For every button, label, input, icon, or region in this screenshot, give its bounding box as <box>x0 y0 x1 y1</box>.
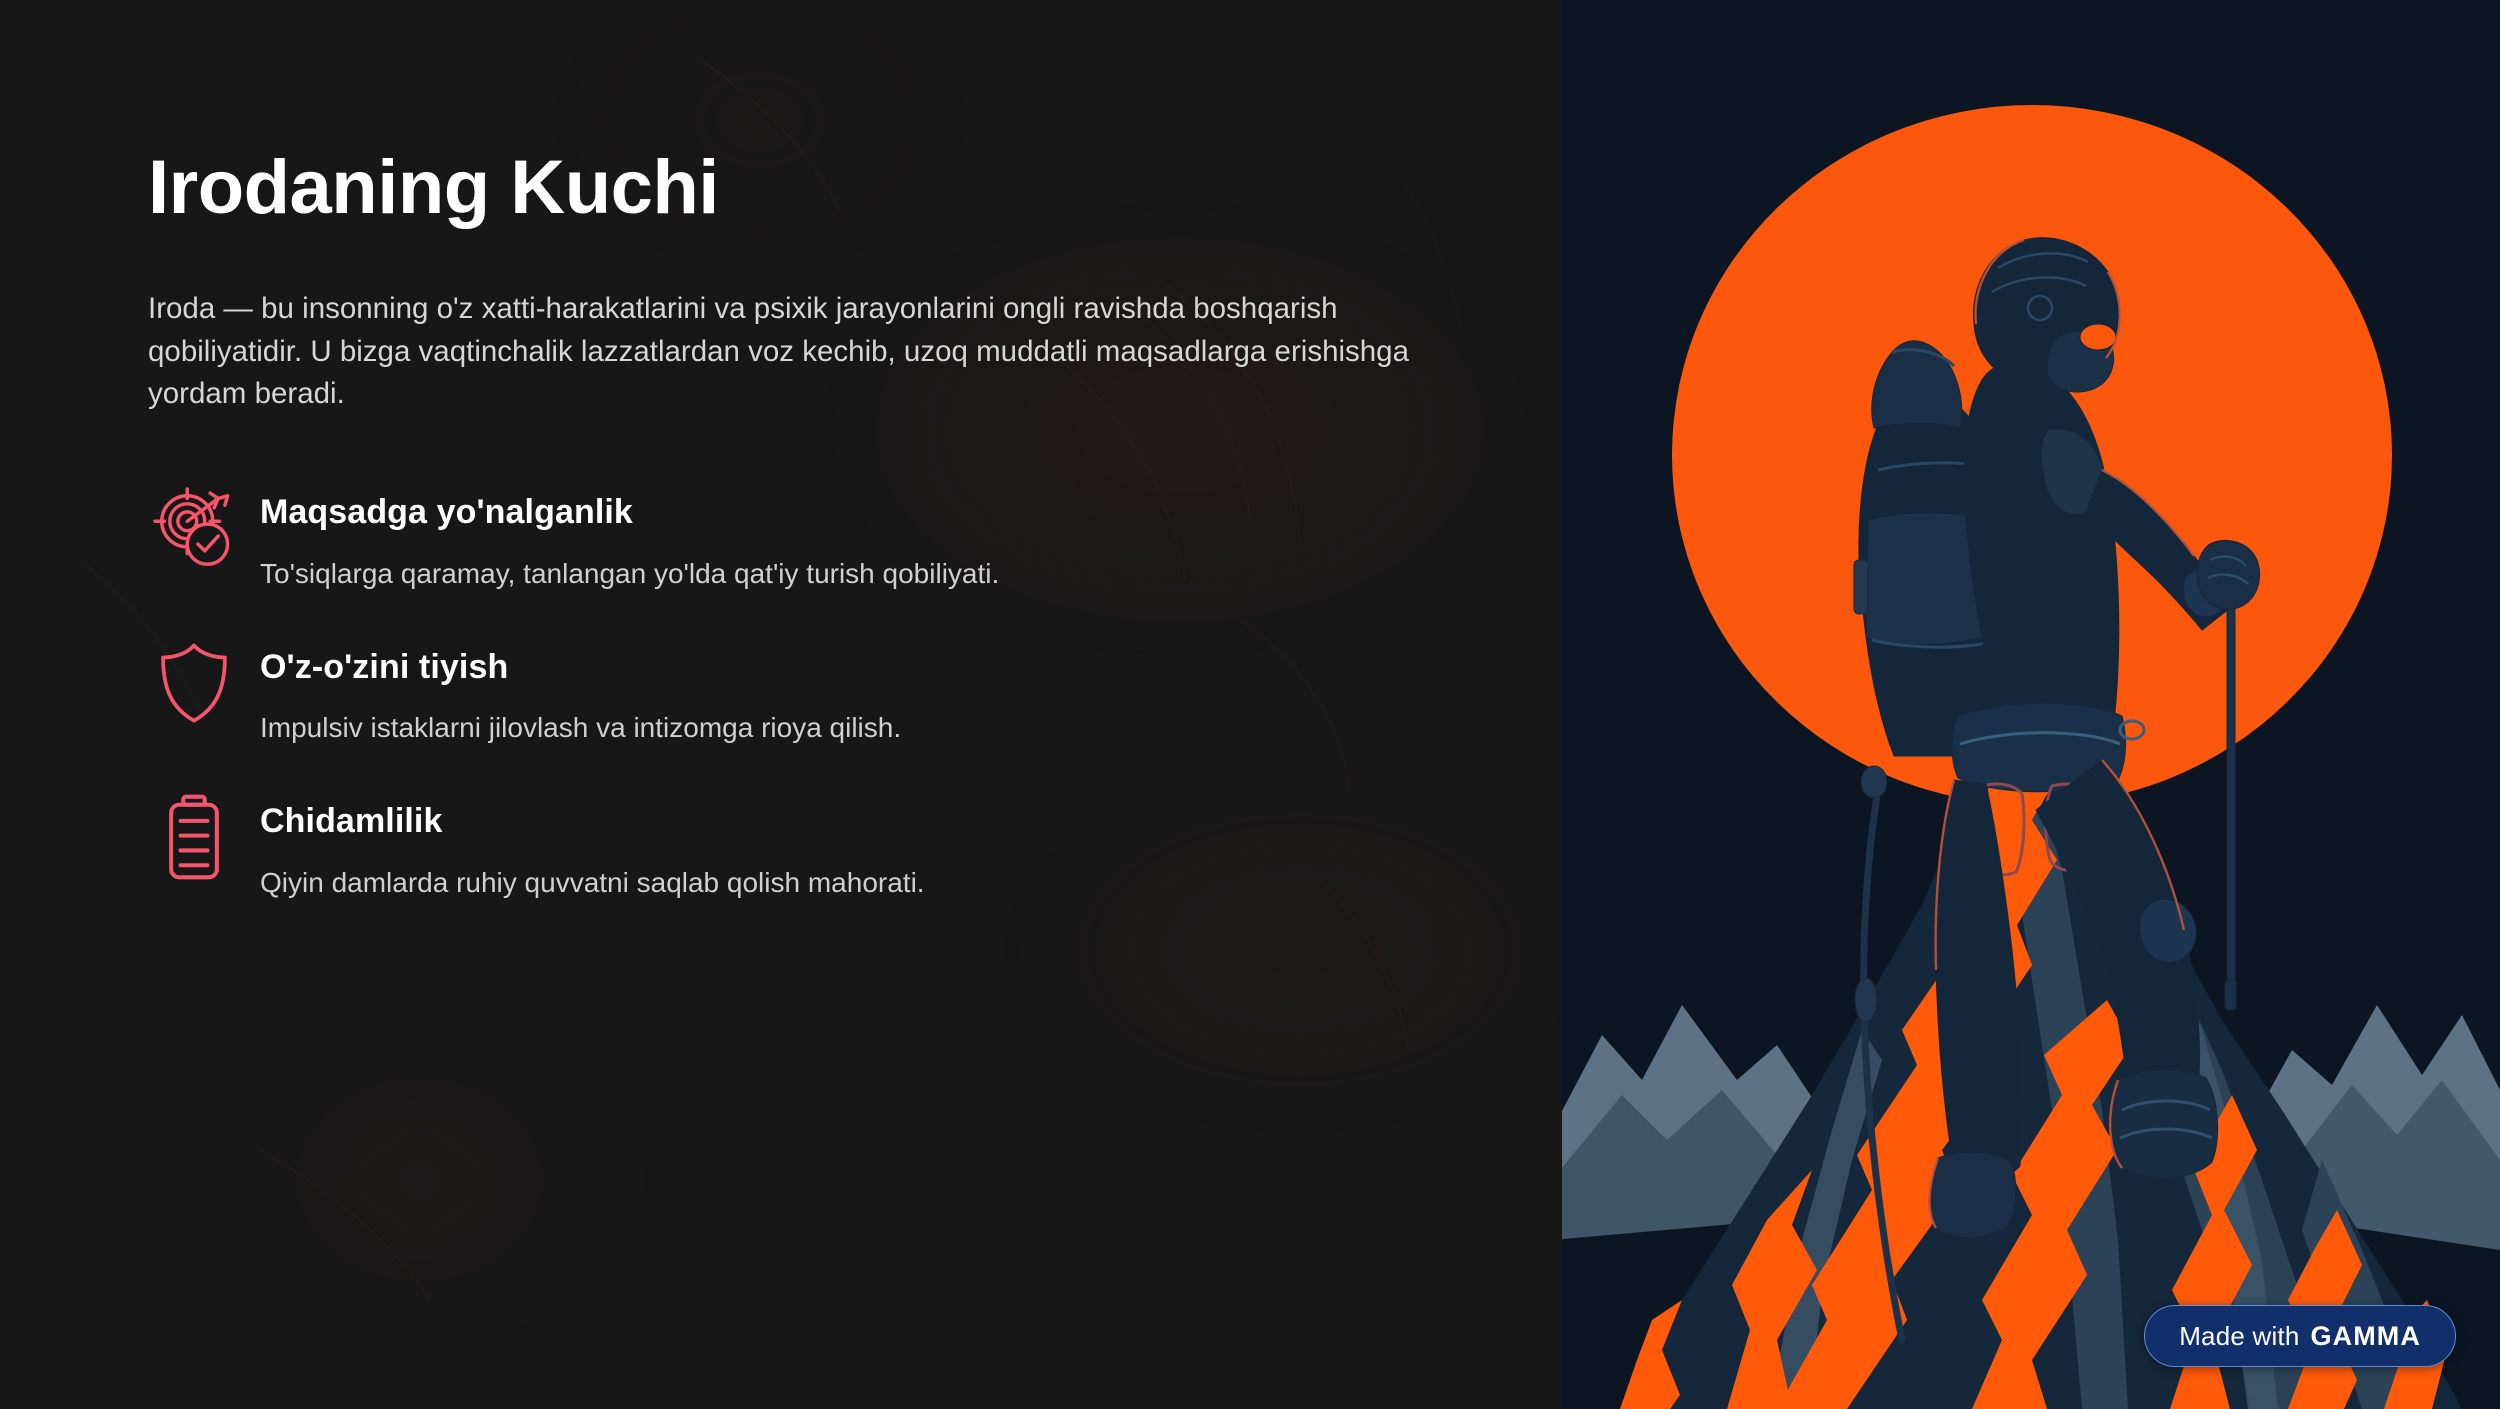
feature-title: Maqsadga yo'nalganlik <box>260 492 999 533</box>
left-content-panel: Irodaning Kuchi Iroda — bu insonning o'z… <box>0 0 1562 1409</box>
target-arrow-check-icon <box>148 482 240 574</box>
feature-item-self-restraint: O'z-o'zini tiyish Impulsiv istaklarni ji… <box>148 635 1562 748</box>
feature-item-endurance: Chidamlilik Qiyin damlarda ruhiy quvvatn… <box>148 789 1562 902</box>
feature-item-goal-orientation: Maqsadga yo'nalganlik To'siqlarga qarama… <box>148 480 1562 593</box>
forward-boot <box>2110 1070 2218 1178</box>
goggle-lens <box>2080 324 2116 350</box>
trekking-pole <box>2227 545 2235 1005</box>
feature-text: O'z-o'zini tiyish Impulsiv istaklarni ji… <box>260 635 901 748</box>
battery-icon <box>148 791 240 883</box>
feature-description: Qiyin damlarda ruhiy quvvatni saqlab qol… <box>260 864 925 902</box>
left-content: Irodaning Kuchi Iroda — bu insonning o'z… <box>0 0 1562 944</box>
feature-description: Impulsiv istaklarni jilovlash va intizom… <box>260 709 901 747</box>
feature-title: O'z-o'zini tiyish <box>260 647 901 688</box>
shield-icon <box>148 637 240 729</box>
feature-list: Maqsadga yo'nalganlik To'siqlarga qarama… <box>148 480 1562 944</box>
feature-title: Chidamlilik <box>260 801 925 842</box>
feature-text: Chidamlilik Qiyin damlarda ruhiy quvvatn… <box>260 789 925 902</box>
illustration-panel: Made with GAMMA <box>1562 0 2500 1409</box>
page-title: Irodaning Kuchi <box>148 148 1562 228</box>
intro-paragraph: Iroda — bu insonning o'z xatti-harakatla… <box>148 288 1428 416</box>
badge-brand-label: GAMMA <box>2311 1321 2421 1352</box>
slide: Irodaning Kuchi Iroda — bu insonning o'z… <box>0 0 2500 1409</box>
rear-boot <box>1929 1152 2015 1237</box>
feature-description: To'siqlarga qaramay, tanlangan yo'lda qa… <box>260 555 999 593</box>
made-with-gamma-badge[interactable]: Made with GAMMA <box>2144 1305 2456 1367</box>
feature-text: Maqsadga yo'nalganlik To'siqlarga qarama… <box>260 480 999 593</box>
climber-mountain-illustration <box>1562 0 2500 1409</box>
badge-made-with-label: Made with <box>2179 1321 2299 1352</box>
